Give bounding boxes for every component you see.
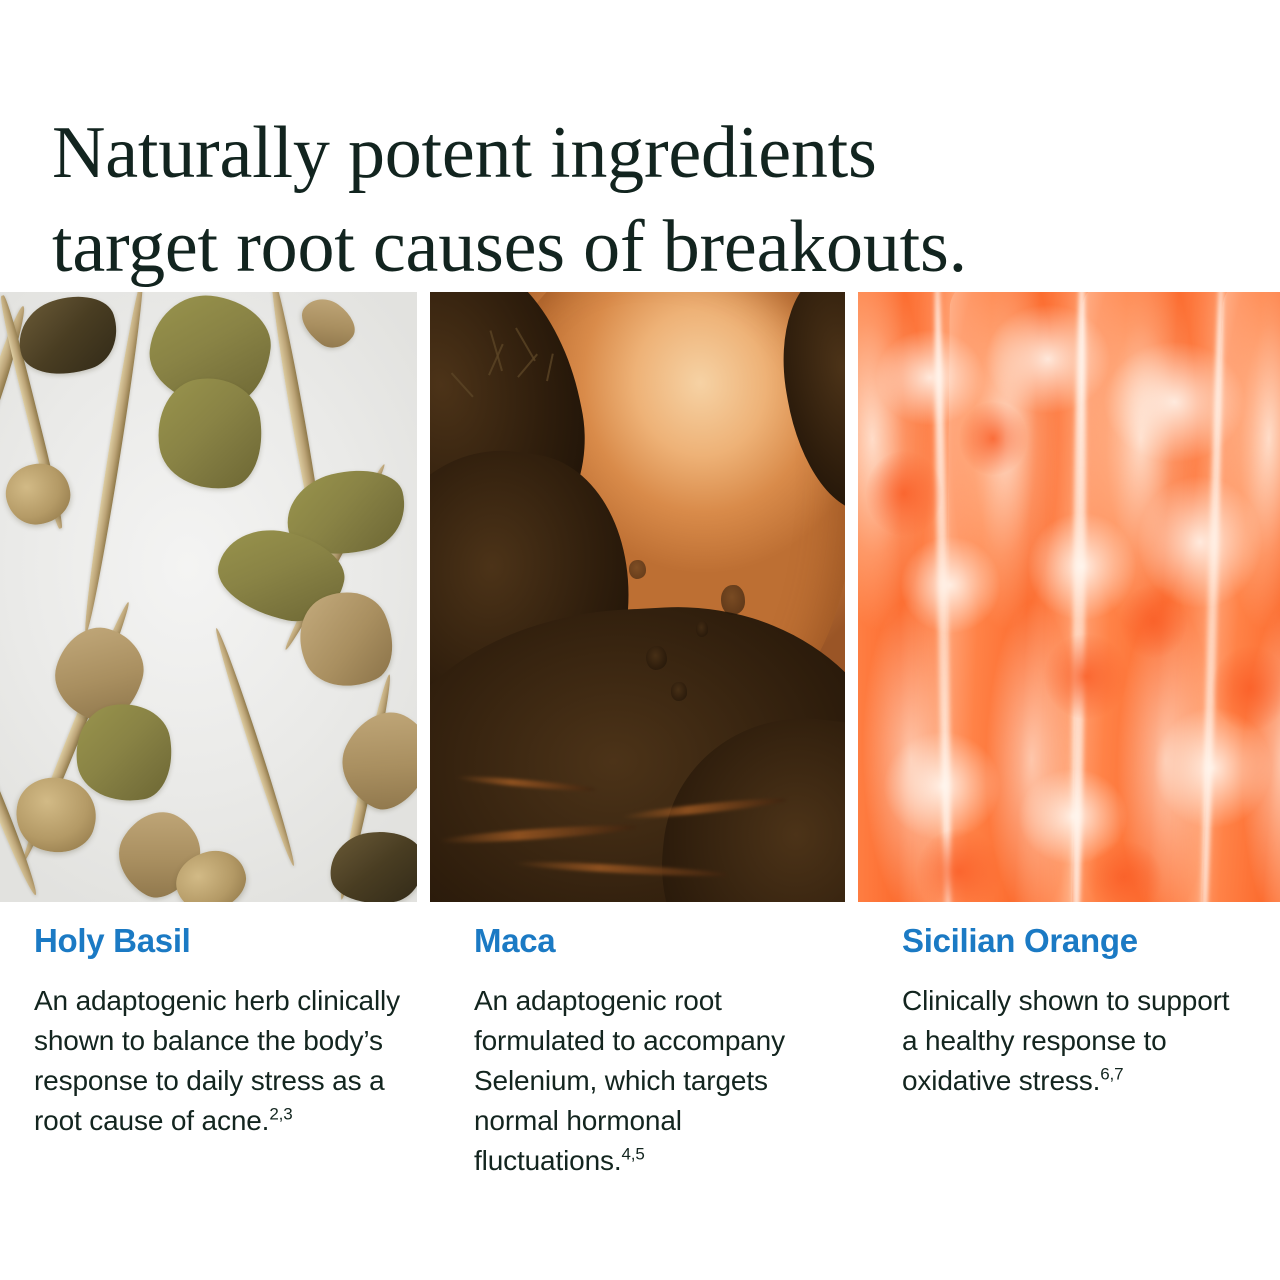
citation-marker: 4,5 [621,1144,644,1163]
ingredient-column-maca: Maca An adaptogenic root formulated to a… [474,924,844,1181]
ingredient-body-sicilian-orange: Clinically shown to support a healthy re… [902,981,1232,1101]
citation-marker: 2,3 [269,1104,292,1123]
ingredient-body-holy-basil: An adaptogenic herb clinically shown to … [34,981,404,1141]
ingredient-column-holy-basil: Holy Basil An adaptogenic herb clinicall… [34,924,404,1141]
ingredient-descriptions: Holy Basil An adaptogenic herb clinicall… [0,924,1280,1254]
ingredient-description-text: An adaptogenic herb clinically shown to … [34,985,400,1136]
ingredient-title-sicilian-orange: Sicilian Orange [902,924,1232,959]
maca-root-artwork [430,292,845,902]
citation-marker: 6,7 [1100,1064,1123,1083]
holy-basil-artwork [0,292,417,902]
ingredient-title-holy-basil: Holy Basil [34,924,404,959]
ingredient-description-text: Clinically shown to support a healthy re… [902,985,1229,1096]
headline-line-1: Naturally potent ingredients [52,106,1232,201]
ingredient-image-holy-basil [0,292,417,902]
ingredient-image-strip [0,292,1280,902]
ingredient-title-maca: Maca [474,924,844,959]
ingredient-image-sicilian-orange [858,292,1280,902]
headline-line-2: target root causes of breakouts. [52,200,1232,295]
page-title: Naturally potent ingredients target root… [52,106,1232,295]
ingredient-column-sicilian-orange: Sicilian Orange Clinically shown to supp… [902,924,1232,1101]
orange-segments-artwork [858,292,1280,902]
ingredient-body-maca: An adaptogenic root formulated to accomp… [474,981,844,1181]
ingredients-panel: Naturally potent ingredients target root… [0,0,1280,1280]
ingredient-image-maca [430,292,845,902]
